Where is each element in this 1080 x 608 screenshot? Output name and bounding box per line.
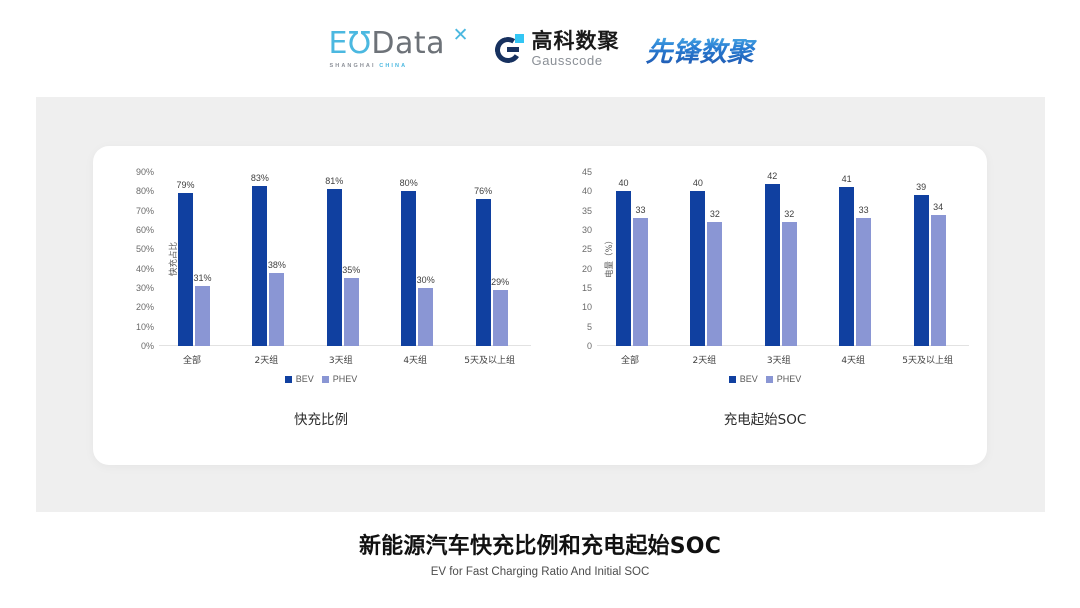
x-axis-tick: 3天组 — [767, 353, 791, 366]
gausscode-name-cn: 高科数聚 — [532, 31, 620, 52]
bar-fill — [178, 193, 193, 346]
y-axis-tick: 10% — [136, 322, 154, 332]
bar-value-label: 35% — [342, 265, 360, 275]
evdata-tagline-shanghai: SHANGHAI — [330, 63, 376, 69]
bar-group: 42323天组 — [746, 172, 820, 346]
bar-value-label: 80% — [400, 178, 418, 188]
bar-fill — [633, 218, 648, 346]
y-axis-tick: 10 — [582, 302, 592, 312]
charts-card: 快充占比 0%10%20%30%40%50%60%70%80%90%79%31%… — [93, 146, 987, 465]
bar-fill — [765, 184, 780, 346]
y-axis-tick: 20 — [582, 264, 592, 274]
bar-value-label: 33 — [859, 205, 869, 215]
bar-group: 79%31%全部 — [159, 172, 233, 346]
bar-fill — [690, 191, 705, 346]
bar-bev[interactable]: 76% — [476, 199, 491, 346]
bar-fill — [839, 187, 854, 346]
bar-group: 76%29%5天及以上组 — [457, 172, 531, 346]
bar-fill — [782, 222, 797, 346]
legend-swatch — [322, 376, 329, 383]
y-axis-tick: 0 — [587, 341, 592, 351]
bar-group: 81%35%3天组 — [308, 172, 382, 346]
bar-phev[interactable]: 32 — [782, 222, 797, 346]
bar-value-label: 31% — [193, 273, 211, 283]
logo-bar: EƱData ✕ SHANGHAI CHINA 高科数聚 Gausscode 先… — [0, 22, 1080, 76]
bar-bev[interactable]: 80% — [401, 191, 416, 346]
legend-label: BEV — [296, 374, 314, 384]
xianfeng-shuju-logo: 先锋数聚 — [642, 28, 758, 71]
bar-group: 4033全部 — [597, 172, 671, 346]
y-axis-tick: 50% — [136, 244, 154, 254]
bar-bev[interactable]: 41 — [839, 187, 854, 346]
y-axis-tick: 15 — [582, 283, 592, 293]
x-axis-tick: 4天组 — [841, 353, 865, 366]
bar-value-label: 40 — [618, 178, 628, 188]
bar-fill — [418, 288, 433, 346]
bar-bev[interactable]: 81% — [327, 189, 342, 346]
chart-legend: BEVPHEV — [545, 374, 985, 384]
bar-fill — [252, 186, 267, 346]
bar-value-label: 79% — [176, 180, 194, 190]
bar-fill — [344, 278, 359, 346]
legend-item[interactable]: BEV — [285, 374, 314, 384]
gausscode-name-en: Gausscode — [532, 54, 620, 67]
y-axis-tick: 80% — [136, 186, 154, 196]
bar-group: 40322天组 — [671, 172, 745, 346]
legend-label: PHEV — [333, 374, 358, 384]
bar-fill — [493, 290, 508, 346]
legend-item[interactable]: PHEV — [766, 374, 802, 384]
y-axis-tick: 90% — [136, 167, 154, 177]
slide-body-panel: 快充占比 0%10%20%30%40%50%60%70%80%90%79%31%… — [36, 97, 1045, 512]
y-axis-tick: 45 — [582, 167, 592, 177]
bar-phev[interactable]: 31% — [195, 286, 210, 346]
bar-fill — [327, 189, 342, 346]
bar-bev[interactable]: 39 — [914, 195, 929, 346]
slide-title-cn: 新能源汽车快充比例和充电起始SOC — [0, 528, 1080, 560]
y-axis-tick: 25 — [582, 244, 592, 254]
evdata-wordmark-ev: EƱ — [329, 26, 372, 61]
bar-value-label: 83% — [251, 173, 269, 183]
ring-tick-icon — [507, 47, 519, 52]
slide-title-en: EV for Fast Charging Ratio And Initial S… — [0, 566, 1080, 578]
x-axis-tick: 2天组 — [255, 353, 279, 366]
legend-item[interactable]: BEV — [729, 374, 758, 384]
bar-fill — [931, 215, 946, 346]
bar-bev[interactable]: 42 — [765, 184, 780, 346]
bar-bev[interactable]: 40 — [690, 191, 705, 346]
x-axis-tick: 5天及以上组 — [464, 353, 515, 366]
evdata-tagline: SHANGHAI CHINA — [330, 63, 408, 69]
y-axis-tick: 70% — [136, 206, 154, 216]
chart-caption: 快充比例 — [101, 408, 541, 428]
bar-value-label: 41 — [842, 174, 852, 184]
bar-phev[interactable]: 33 — [856, 218, 871, 346]
bar-value-label: 33 — [635, 205, 645, 215]
bar-value-label: 40 — [693, 178, 703, 188]
bar-phev[interactable]: 34 — [931, 215, 946, 346]
bar-value-label: 39 — [916, 182, 926, 192]
y-axis-tick: 40 — [582, 186, 592, 196]
x-axis-tick: 4天组 — [403, 353, 427, 366]
evdata-tagline-china: CHINA — [379, 63, 407, 69]
y-axis-tick: 40% — [136, 264, 154, 274]
evdata-wordmark: EƱData — [329, 29, 446, 59]
bar-fill — [914, 195, 929, 346]
x-axis-tick: 3天组 — [329, 353, 353, 366]
legend-swatch — [766, 376, 773, 383]
bar-group: 41334天组 — [820, 172, 894, 346]
square-accent-icon — [515, 34, 524, 43]
legend-label: BEV — [740, 374, 758, 384]
gausscode-mark-icon — [495, 34, 525, 64]
bar-fill — [616, 191, 631, 346]
y-axis-tick: 5 — [587, 322, 592, 332]
legend-swatch — [729, 376, 736, 383]
bar-group: 39345天及以上组 — [895, 172, 969, 346]
bar-phev[interactable]: 35% — [344, 278, 359, 346]
bar-phev[interactable]: 29% — [493, 290, 508, 346]
bar-value-label: 38% — [268, 260, 286, 270]
bar-phev[interactable]: 38% — [269, 273, 284, 346]
chart-initial-soc: 电量（%） 0510152025303540454033全部40322天组423… — [545, 156, 985, 456]
x-axis-tick: 全部 — [621, 353, 639, 366]
bar-value-label: 32 — [710, 209, 720, 219]
chart-fast-charging-ratio: 快充占比 0%10%20%30%40%50%60%70%80%90%79%31%… — [101, 156, 541, 456]
bar-value-label: 32 — [784, 209, 794, 219]
gausscode-text: 高科数聚 Gausscode — [532, 31, 620, 67]
bar-value-label: 81% — [325, 176, 343, 186]
bar-phev[interactable]: 30% — [418, 288, 433, 346]
slide-title-block: 新能源汽车快充比例和充电起始SOC EV for Fast Charging R… — [0, 528, 1080, 578]
bar-fill — [476, 199, 491, 346]
chart-caption: 充电起始SOC — [545, 408, 985, 428]
y-axis-tick: 20% — [136, 302, 154, 312]
bar-phev[interactable]: 33 — [633, 218, 648, 346]
bar-value-label: 34 — [933, 202, 943, 212]
legend-label: PHEV — [777, 374, 802, 384]
y-axis-tick: 0% — [141, 341, 154, 351]
bar-bev[interactable]: 83% — [252, 186, 267, 346]
x-axis-tick: 2天组 — [693, 353, 717, 366]
gausscode-logo: 高科数聚 Gausscode — [495, 27, 620, 71]
x-axis-tick: 全部 — [183, 353, 201, 366]
evdata-logo: EƱData ✕ SHANGHAI CHINA — [323, 25, 473, 73]
y-axis-tick: 30 — [582, 225, 592, 235]
bar-value-label: 42 — [767, 171, 777, 181]
legend-item[interactable]: PHEV — [322, 374, 358, 384]
bar-bev[interactable]: 79% — [178, 193, 193, 346]
y-axis-tick: 30% — [136, 283, 154, 293]
x-axis-tick: 5天及以上组 — [902, 353, 953, 366]
bar-value-label: 30% — [417, 275, 435, 285]
bar-fill — [707, 222, 722, 346]
bar-fill — [269, 273, 284, 346]
bar-group: 80%30%4天组 — [382, 172, 456, 346]
bar-fill — [401, 191, 416, 346]
bar-fill — [195, 286, 210, 346]
evdata-wordmark-data: Data — [371, 26, 445, 61]
bar-value-label: 76% — [474, 186, 492, 196]
y-axis-tick: 35 — [582, 206, 592, 216]
bar-bev[interactable]: 40 — [616, 191, 631, 346]
legend-swatch — [285, 376, 292, 383]
bar-group: 83%38%2天组 — [233, 172, 307, 346]
x-mark-icon: ✕ — [453, 24, 469, 47]
plot-area: 快充占比 0%10%20%30%40%50%60%70%80%90%79%31%… — [159, 172, 531, 346]
y-axis-tick: 60% — [136, 225, 154, 235]
bar-value-label: 29% — [491, 277, 509, 287]
plot-area: 电量（%） 0510152025303540454033全部40322天组423… — [597, 172, 969, 346]
bar-fill — [856, 218, 871, 346]
chart-legend: BEVPHEV — [101, 374, 541, 384]
bar-phev[interactable]: 32 — [707, 222, 722, 346]
